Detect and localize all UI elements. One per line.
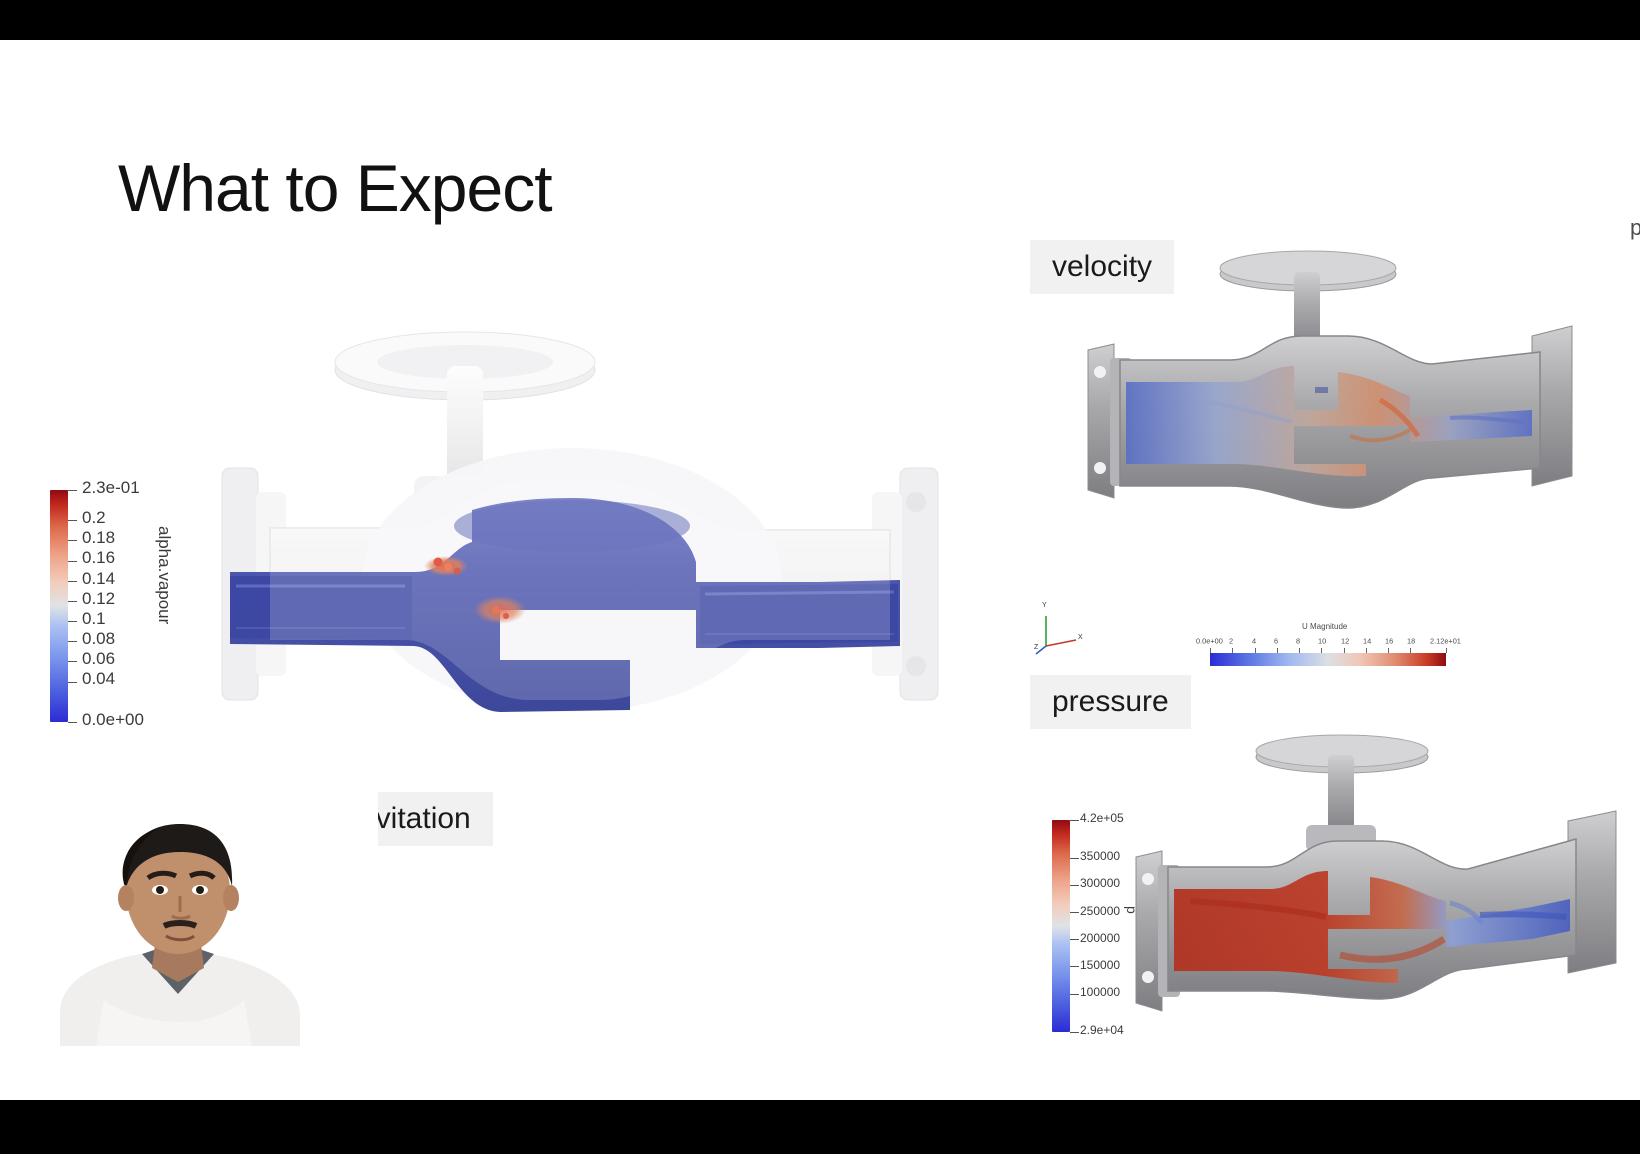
colorbar-tick-label: 0.14: [82, 569, 115, 589]
colorbar-tick: [1070, 912, 1079, 913]
colorbar-tick-label: 0.16: [82, 548, 115, 568]
axis-triad-x-label: X: [1078, 634, 1083, 641]
colorbar-tick: [68, 682, 77, 683]
cavitation-valve-render: [200, 280, 960, 750]
colorbar-tick-label: 0.2: [82, 508, 106, 528]
colorbar-tick-label: 4: [1252, 637, 1256, 645]
colorbar-tick-label: 14: [1363, 637, 1371, 645]
velocity-colorbar-gradient: [1210, 653, 1446, 666]
pressure-colorbar-gradient: [1052, 820, 1070, 1032]
colorbar-tick: [68, 490, 77, 491]
colorbar-tick: [68, 601, 77, 602]
colorbar-tick: [1070, 820, 1079, 821]
axis-triad: Y X Z: [1034, 602, 1090, 656]
colorbar-tick-label: 100000: [1080, 985, 1120, 999]
velocity-valve-svg: [1080, 240, 1580, 600]
colorbar-tick-label: 4.2e+05: [1080, 811, 1124, 825]
presenter-webcam-figure: [0, 786, 378, 1046]
colorbar-tick: [1446, 648, 1447, 653]
colorbar-tick-label: 2.9e+04: [1080, 1023, 1124, 1037]
colorbar-tick: [68, 621, 77, 622]
axis-triad-z-label: Z: [1034, 644, 1038, 651]
colorbar-tick-label: 0.18: [82, 528, 115, 548]
axis-triad-y-label: Y: [1042, 602, 1047, 609]
velocity-valve-render: [1080, 240, 1580, 600]
colorbar-tick: [68, 561, 77, 562]
colorbar-tick: [1070, 885, 1079, 886]
cavitation-colorbar: 2.3e-010.20.180.160.140.120.10.080.060.0…: [50, 490, 200, 722]
colorbar-tick: [1070, 994, 1079, 995]
colorbar-tick-label: 12: [1341, 637, 1349, 645]
colorbar-tick-label: 150000: [1080, 958, 1120, 972]
colorbar-tick-label: 2: [1229, 637, 1233, 645]
colorbar-tick: [68, 520, 77, 521]
pressure-colorbar: 4.2e+05350000300000250000200000150000100…: [1052, 820, 1212, 1032]
label-pressure: pressure: [1030, 675, 1191, 729]
colorbar-tick-label: 0.12: [82, 589, 115, 609]
cavitation-valve-svg: [200, 280, 960, 750]
colorbar-tick: [1070, 939, 1079, 940]
cavitation-colorbar-gradient: [50, 490, 68, 722]
velocity-colorbar-title: U Magnitude: [1302, 622, 1347, 631]
colorbar-tick: [68, 641, 77, 642]
colorbar-tick: [1070, 1032, 1079, 1033]
colorbar-tick: [68, 722, 77, 723]
pressure-colorbar-title: p: [1124, 906, 1140, 914]
colorbar-tick-label: 0.06: [82, 649, 115, 669]
colorbar-tick-label: 10: [1318, 637, 1326, 645]
screen-root: What to Expect: [0, 0, 1640, 1154]
letterbox-bottom: [0, 1100, 1640, 1154]
colorbar-tick-label: 0.08: [82, 629, 115, 649]
colorbar-tick: [1070, 966, 1079, 967]
colorbar-tick-label: 0.0e+00: [1196, 637, 1223, 645]
colorbar-tick-label: 8: [1296, 637, 1300, 645]
velocity-colorbar: U Magnitude 0.0e+00246810121416182.12e+0…: [1202, 622, 1452, 670]
colorbar-tick-label: 6: [1274, 637, 1278, 645]
colorbar-tick: [68, 661, 77, 662]
letterbox-top: [0, 0, 1640, 40]
colorbar-tick-label: 2.3e-01: [82, 478, 140, 498]
colorbar-tick: [68, 581, 77, 582]
colorbar-tick-label: 0.1: [82, 609, 106, 629]
edge-partial-label: p: [1630, 215, 1640, 241]
presenter-webcam[interactable]: [0, 786, 378, 1046]
colorbar-tick-label: 2.12e+01: [1430, 637, 1461, 645]
cavitation-colorbar-title: alpha.vapour: [154, 526, 174, 624]
colorbar-tick-label: 300000: [1080, 876, 1120, 890]
colorbar-tick-label: 350000: [1080, 849, 1120, 863]
colorbar-tick: [68, 540, 77, 541]
colorbar-tick-label: 18: [1407, 637, 1415, 645]
colorbar-tick-label: 200000: [1080, 931, 1120, 945]
colorbar-tick-label: 16: [1385, 637, 1393, 645]
colorbar-tick-label: 0.04: [82, 669, 115, 689]
colorbar-tick: [1070, 858, 1079, 859]
colorbar-tick-label: 0.0e+00: [82, 710, 144, 730]
axis-triad-svg: [1034, 602, 1090, 656]
presentation-slide: What to Expect: [0, 40, 1640, 1100]
colorbar-tick-label: 250000: [1080, 904, 1120, 918]
page-title: What to Expect: [118, 150, 552, 226]
